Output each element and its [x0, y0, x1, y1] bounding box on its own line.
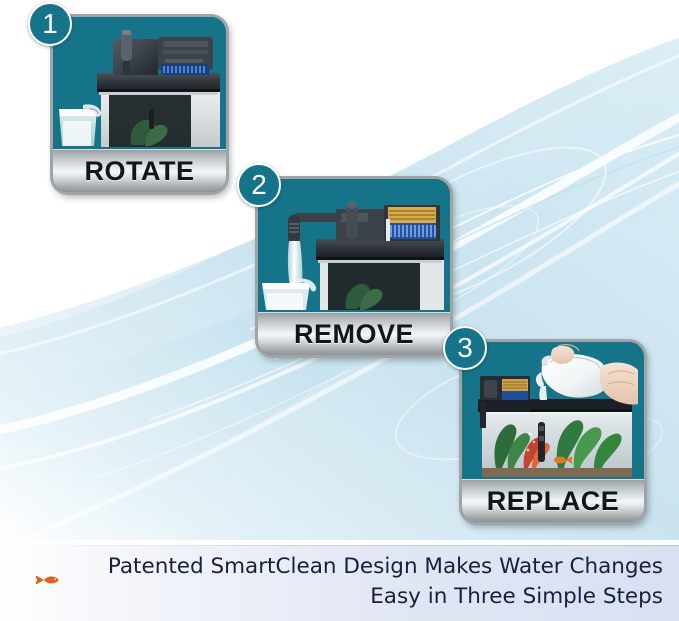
step-card-1-inner: ROTATE: [53, 17, 226, 192]
step-card-3[interactable]: REPLACE: [459, 339, 647, 525]
step-badge-3: 3: [443, 326, 487, 370]
step-2-label-strip: REMOVE: [258, 312, 450, 355]
aquarium-filter-remove-photo: [258, 179, 450, 313]
step-card-3-inner: REPLACE: [462, 342, 644, 522]
step-3-label-strip: REPLACE: [462, 479, 644, 522]
caption-text: Patented SmartClean Design Makes Water C…: [70, 552, 663, 612]
aquarium-refill-replace-photo: [462, 342, 644, 480]
step-2-label: REMOVE: [294, 321, 414, 348]
step-badge-2-number: 2: [251, 171, 267, 199]
caption-line-1: Patented SmartClean Design Makes Water C…: [70, 552, 663, 582]
step-card-1[interactable]: ROTATE: [50, 14, 229, 195]
caption-line-2: Easy in Three Simple Steps: [70, 582, 663, 612]
fish-icon: [34, 573, 60, 587]
step-1-label: ROTATE: [85, 158, 195, 185]
aquarium-filter-rotate-photo: [53, 17, 226, 150]
step-badge-1-number: 1: [42, 10, 58, 38]
step-card-2[interactable]: REMOVE: [255, 176, 453, 358]
step-badge-1: 1: [28, 2, 72, 46]
infographic-stage: ROTATE 1: [0, 0, 679, 621]
step-badge-3-number: 3: [457, 334, 473, 362]
step-3-label: REPLACE: [487, 488, 620, 515]
step-card-2-inner: REMOVE: [258, 179, 450, 355]
caption-band: Patented SmartClean Design Makes Water C…: [0, 546, 679, 621]
step-1-label-strip: ROTATE: [53, 149, 226, 192]
step-badge-2: 2: [237, 163, 281, 207]
